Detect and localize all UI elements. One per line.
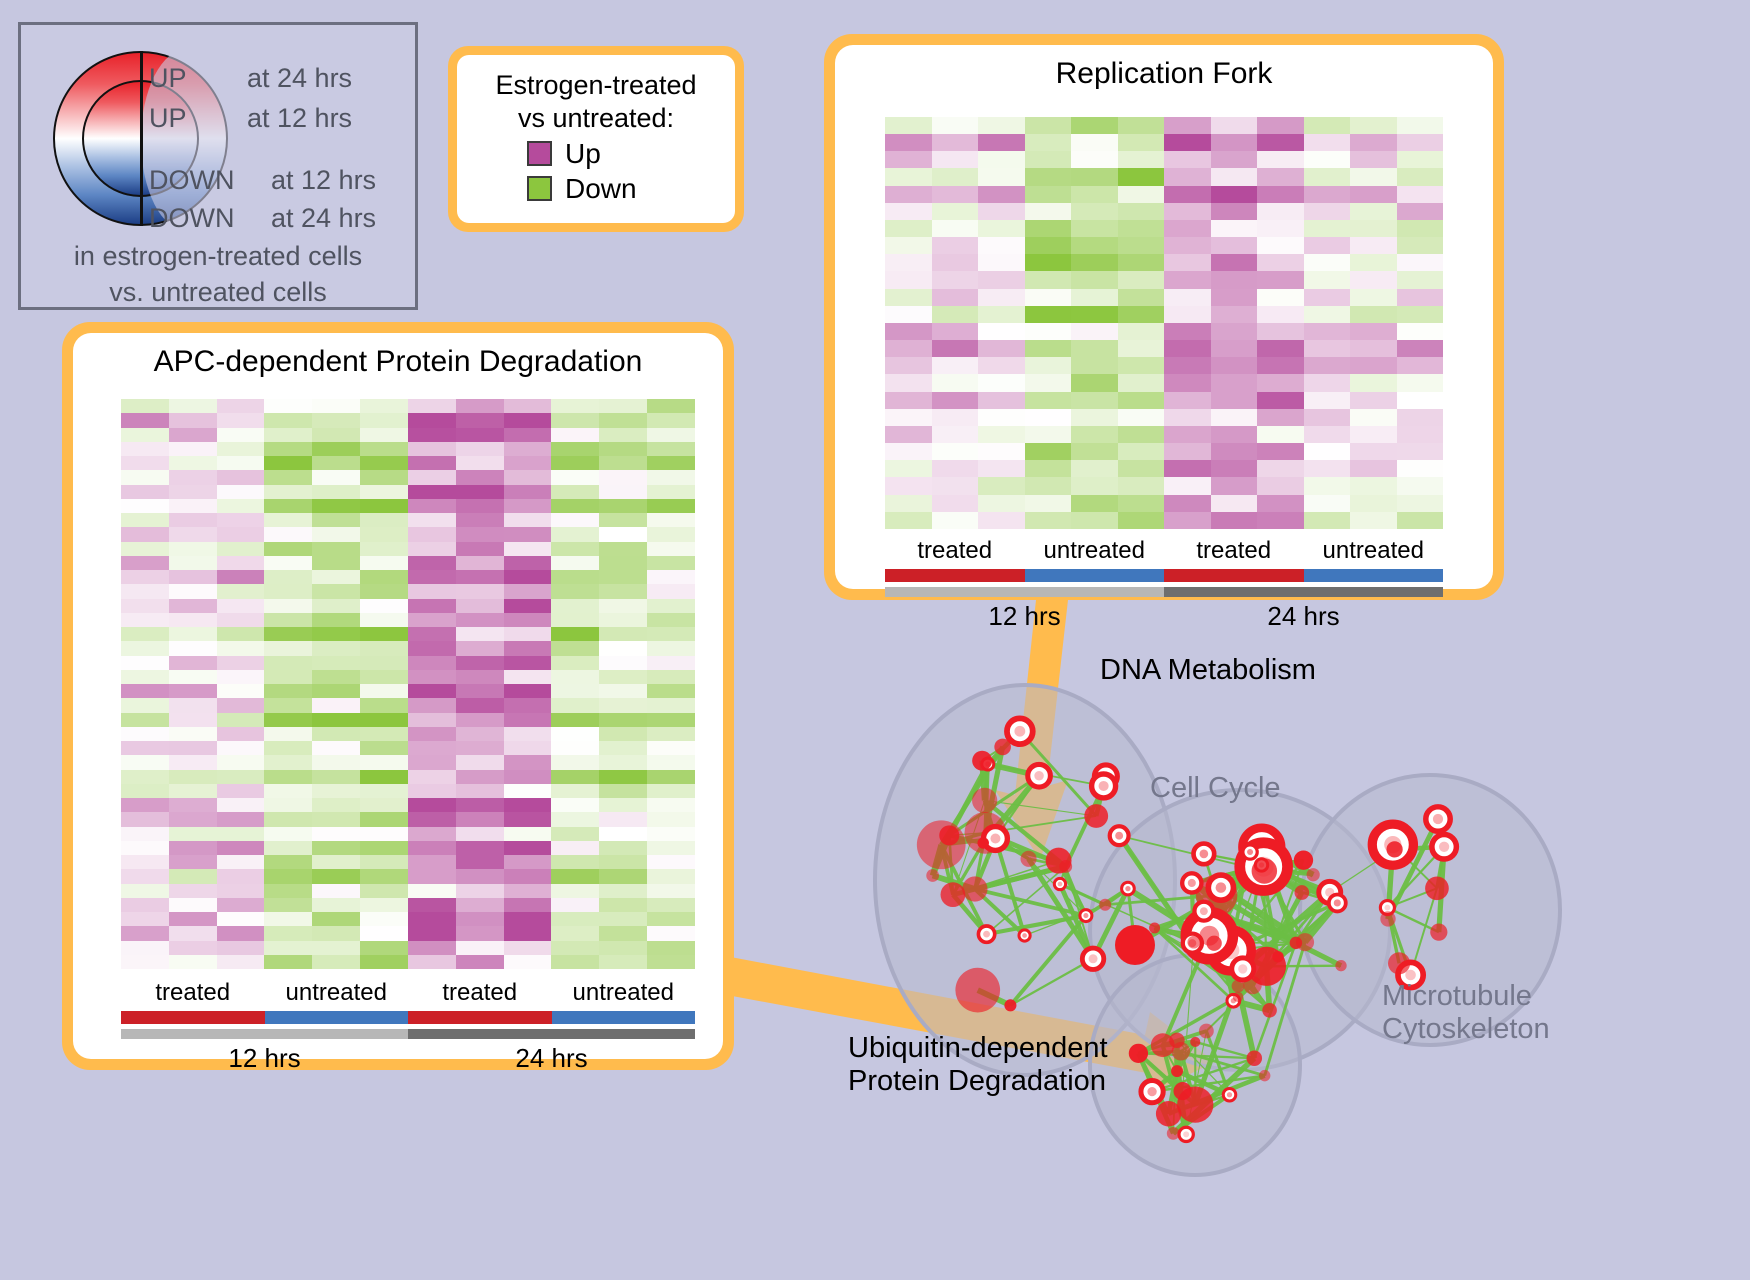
time-bar-24hrs — [408, 1029, 695, 1039]
heatmap-cell — [121, 926, 169, 940]
network-node-core — [1188, 879, 1196, 887]
heatmap-cell — [1118, 374, 1165, 391]
heatmap-cell — [978, 271, 1025, 288]
heatmap-cell — [1257, 220, 1304, 237]
network-node — [1380, 911, 1395, 926]
heatmap-cell — [647, 670, 695, 684]
heatmap-cell — [1304, 443, 1351, 460]
heatmap-cell — [647, 827, 695, 841]
heatmap-cell — [312, 955, 360, 969]
heatmap-cell — [932, 254, 979, 271]
heatmap-cell — [1211, 495, 1258, 512]
heatmap-cell — [599, 926, 647, 940]
group-bar-untreated-12 — [1025, 569, 1165, 582]
heatmap-cell — [885, 443, 932, 460]
group-bar-treated-12 — [121, 1011, 265, 1024]
heatmap-cell — [647, 784, 695, 798]
heatmap-cell — [932, 512, 979, 529]
network-node — [1386, 841, 1402, 857]
heatmap-cell — [932, 237, 979, 254]
heatmap-cell — [504, 670, 552, 684]
heatmap-cell — [121, 513, 169, 527]
heatmap-cell — [264, 741, 312, 755]
heatmap-cell — [264, 456, 312, 470]
heatmap-cell — [1211, 443, 1258, 460]
heatmap-cell — [408, 641, 456, 655]
heatmap-cell — [1257, 323, 1304, 340]
heatmap-cell — [647, 513, 695, 527]
heatmap-cell — [360, 869, 408, 883]
heatmap-cell — [169, 470, 217, 484]
heatmap-cell — [504, 884, 552, 898]
heatmap-cell — [456, 898, 504, 912]
heatmap-cell — [1304, 203, 1351, 220]
heatmap-cell — [932, 289, 979, 306]
heatmap-cell — [360, 542, 408, 556]
heatmap-cell — [1118, 340, 1165, 357]
heatmap-cell — [504, 513, 552, 527]
heatmap-cell — [978, 477, 1025, 494]
cluster-label-cell-cycle: Cell Cycle — [1150, 772, 1281, 805]
heatmap-cell — [360, 627, 408, 641]
network-node-core — [1058, 882, 1063, 887]
heatmap-cell — [551, 527, 599, 541]
heatmap-cell — [169, 627, 217, 641]
heatmap-cell — [312, 584, 360, 598]
heatmap-cell — [217, 656, 265, 670]
heatmap-cell — [647, 713, 695, 727]
heatmap-cell — [647, 869, 695, 883]
heatmap-cell — [121, 399, 169, 413]
heatmap-cell — [121, 570, 169, 584]
heatmap-cell — [1304, 392, 1351, 409]
heatmap-cell — [1164, 168, 1211, 185]
heatmap-cell — [1025, 151, 1072, 168]
heatmap-cell — [169, 941, 217, 955]
heatmap-cell — [932, 117, 979, 134]
replication-fork-time-bars — [885, 587, 1443, 597]
network-node — [977, 837, 988, 848]
heatmap-cell — [978, 134, 1025, 151]
heatmap-cell — [1304, 134, 1351, 151]
network-node-core — [1014, 726, 1025, 737]
group-bar-untreated-24 — [1304, 569, 1444, 582]
heatmap-cell — [169, 428, 217, 442]
heatmap-cell — [169, 812, 217, 826]
heatmap-cell — [408, 428, 456, 442]
network-node — [1335, 960, 1346, 971]
heatmap-cell — [312, 627, 360, 641]
heatmap-cell — [217, 741, 265, 755]
heatmap-cell — [360, 499, 408, 513]
heatmap-cell — [1257, 289, 1304, 306]
heatmap-cell — [978, 186, 1025, 203]
heatmap-cell — [264, 898, 312, 912]
heatmap-cell — [169, 741, 217, 755]
heatmap-cell — [504, 527, 552, 541]
heatmap-cell — [217, 884, 265, 898]
heatmap-cell — [1350, 168, 1397, 185]
heatmap-cell — [1025, 443, 1072, 460]
heatmap-cell — [1164, 443, 1211, 460]
heatmap-cell — [169, 584, 217, 598]
group-bar-untreated-24 — [552, 1011, 696, 1024]
heatmap-cell — [1350, 460, 1397, 477]
network-node — [962, 876, 987, 901]
heatmap-cell — [408, 670, 456, 684]
network-node — [926, 869, 939, 882]
cluster-label-microtubule-cytoskeleton: Microtubule Cytoskeleton — [1382, 980, 1550, 1047]
heatmap-cell — [647, 413, 695, 427]
heatmap-cell — [504, 584, 552, 598]
heatmap-cell — [1397, 117, 1444, 134]
network-node-core — [1099, 781, 1109, 791]
heatmap-cell — [408, 527, 456, 541]
heatmap-cell — [1350, 306, 1397, 323]
heatmap-cell — [121, 470, 169, 484]
heatmap-cell — [264, 641, 312, 655]
heatmap-cell — [504, 470, 552, 484]
heatmap-cell — [264, 485, 312, 499]
heatmap-cell — [599, 485, 647, 499]
heatmap-cell — [264, 713, 312, 727]
heatmap-cell — [978, 443, 1025, 460]
heatmap-cell — [360, 898, 408, 912]
heatmap-cell — [978, 117, 1025, 134]
heatmap-cell — [264, 613, 312, 627]
heatmap-cell — [169, 641, 217, 655]
heatmap-cell — [932, 495, 979, 512]
heatmap-cell — [1164, 203, 1211, 220]
heatmap-cell — [217, 599, 265, 613]
heatmap-cell — [1025, 426, 1072, 443]
heatmap-cell — [169, 485, 217, 499]
heatmap-cell — [504, 399, 552, 413]
heatmap-cell — [599, 755, 647, 769]
heatmap-cell — [978, 409, 1025, 426]
heatmap-cell — [599, 513, 647, 527]
heatmap-cell — [169, 499, 217, 513]
group-label: untreated — [1025, 537, 1165, 565]
heatmap-cell — [312, 513, 360, 527]
heatmap-cell — [885, 392, 932, 409]
heatmap-cell — [1397, 392, 1444, 409]
key-label-up-12: UP — [149, 103, 187, 134]
heatmap-cell — [978, 512, 1025, 529]
heatmap-cell — [456, 869, 504, 883]
heatmap-cell — [1350, 186, 1397, 203]
heatmap-cell — [312, 941, 360, 955]
heatmap-cell — [1304, 271, 1351, 288]
heatmap-cell — [217, 413, 265, 427]
heatmap-cell — [978, 220, 1025, 237]
heatmap-cell — [1071, 254, 1118, 271]
heatmap-cell — [551, 955, 599, 969]
heatmap-cell — [551, 641, 599, 655]
heatmap-cell — [456, 670, 504, 684]
heatmap-cell — [1211, 168, 1258, 185]
heatmap-cell — [456, 912, 504, 926]
heatmap-cell — [1257, 426, 1304, 443]
heatmap-cell — [360, 926, 408, 940]
heatmap-cell — [360, 741, 408, 755]
heatmap-cell — [599, 413, 647, 427]
heatmap-cell — [599, 684, 647, 698]
heatmap-cell — [1164, 306, 1211, 323]
heatmap-cell — [1257, 203, 1304, 220]
panel-apc-degradation: APC-dependent Protein Degradation treate… — [62, 322, 734, 1070]
heatmap-cell — [408, 513, 456, 527]
heatmap-cell — [885, 168, 932, 185]
heatmap-cell — [312, 869, 360, 883]
heatmap-cell — [647, 941, 695, 955]
heatmap-cell — [1350, 220, 1397, 237]
heatmap-cell — [504, 641, 552, 655]
heatmap-cell — [599, 798, 647, 812]
heatmap-cell — [169, 784, 217, 798]
heatmap-cell — [1025, 374, 1072, 391]
heatmap-cell — [1025, 392, 1072, 409]
heatmap-cell — [264, 884, 312, 898]
heatmap-cell — [1397, 271, 1444, 288]
heatmap-cell — [456, 499, 504, 513]
heatmap-cell — [312, 926, 360, 940]
heatmap-cell — [360, 755, 408, 769]
heatmap-cell — [504, 955, 552, 969]
heatmap-cell — [217, 713, 265, 727]
heatmap-cell — [312, 812, 360, 826]
heatmap-cell — [360, 798, 408, 812]
heatmap-cell — [456, 784, 504, 798]
heatmap-cell — [551, 456, 599, 470]
heatmap-cell — [264, 855, 312, 869]
heatmap-cell — [885, 289, 932, 306]
heatmap-cell — [121, 727, 169, 741]
heatmap-cell — [1397, 426, 1444, 443]
heatmap-cell — [932, 460, 979, 477]
heatmap-cell — [121, 784, 169, 798]
heatmap-cell — [1257, 271, 1304, 288]
heatmap-cell — [647, 798, 695, 812]
group-label: treated — [1164, 537, 1304, 565]
heatmap-cell — [1350, 117, 1397, 134]
heatmap-cell — [264, 727, 312, 741]
heatmap-cell — [360, 841, 408, 855]
heatmap-cell — [599, 827, 647, 841]
heatmap-cell — [932, 392, 979, 409]
heatmap-cell — [1257, 254, 1304, 271]
network-node — [1004, 999, 1016, 1011]
heatmap-cell — [360, 399, 408, 413]
heatmap-cell — [408, 470, 456, 484]
ring-colorbar — [53, 51, 228, 226]
network-node-core — [1405, 970, 1416, 981]
key-label-down-24: DOWN — [149, 203, 234, 234]
network-node — [1021, 851, 1037, 867]
heatmap-cell — [885, 254, 932, 271]
heatmap-cell — [264, 770, 312, 784]
heatmap-cell — [504, 684, 552, 698]
heatmap-cell — [312, 755, 360, 769]
heatmap-cell — [1350, 426, 1397, 443]
heatmap-cell — [504, 570, 552, 584]
heatmap-cell — [1397, 477, 1444, 494]
heatmap-cell — [885, 495, 932, 512]
heatmap-cell — [1304, 374, 1351, 391]
heatmap-cell — [121, 855, 169, 869]
heatmap-cell — [885, 237, 932, 254]
heatmap-cell — [1025, 409, 1072, 426]
heatmap-cell — [599, 955, 647, 969]
network-node — [1262, 1003, 1277, 1018]
color-key-legend: UP at 24 hrs UP at 12 hrs DOWN at 12 hrs… — [18, 22, 418, 310]
heatmap-cell — [217, 770, 265, 784]
heatmap-cell — [504, 812, 552, 826]
replication-fork-title: Replication Fork — [835, 45, 1493, 91]
heatmap-cell — [1350, 340, 1397, 357]
heatmap-cell — [599, 727, 647, 741]
heatmap-cell — [885, 117, 932, 134]
heatmap-cell — [599, 584, 647, 598]
heatmap-cell — [1397, 374, 1444, 391]
heatmap-cell — [1025, 186, 1072, 203]
heatmap-cell — [885, 357, 932, 374]
heatmap-cell — [1211, 271, 1258, 288]
heatmap-cell — [408, 770, 456, 784]
heatmap-cell — [932, 426, 979, 443]
heatmap-cell — [885, 151, 932, 168]
heatmap-cell — [456, 812, 504, 826]
heatmap-cell — [264, 513, 312, 527]
heatmap-cell — [312, 827, 360, 841]
heatmap-cell — [504, 898, 552, 912]
heatmap-cell — [1118, 289, 1165, 306]
heatmap-cell — [121, 770, 169, 784]
heatmap-cell — [932, 477, 979, 494]
network-node — [1259, 1070, 1270, 1081]
heatmap-cell — [1211, 220, 1258, 237]
heatmap-cell — [217, 627, 265, 641]
time-bar-12hrs — [121, 1029, 408, 1039]
heatmap-cell — [456, 485, 504, 499]
heatmap-cell — [551, 741, 599, 755]
heatmap-cell — [456, 798, 504, 812]
heatmap-cell — [1118, 323, 1165, 340]
heatmap-cell — [121, 884, 169, 898]
heatmap-cell — [264, 399, 312, 413]
heatmap-cell — [599, 542, 647, 556]
heatmap-cell — [599, 741, 647, 755]
heatmap-cell — [456, 727, 504, 741]
heatmap-cell — [504, 542, 552, 556]
heatmap-cell — [1397, 460, 1444, 477]
heatmap-cell — [456, 399, 504, 413]
heatmap-cell — [504, 599, 552, 613]
network-node — [1059, 860, 1072, 873]
heatmap-cell — [1025, 340, 1072, 357]
group-label: untreated — [552, 979, 696, 1007]
heatmap-cell — [456, 542, 504, 556]
heatmap-cell — [408, 556, 456, 570]
heatmap-cell — [504, 926, 552, 940]
heatmap-cell — [647, 627, 695, 641]
network-node-core — [990, 833, 1000, 843]
heatmap-cell — [456, 641, 504, 655]
network-node-core — [1227, 1092, 1232, 1097]
heatmap-cell — [1164, 186, 1211, 203]
heatmap-cell — [1257, 443, 1304, 460]
heatmap-cell — [169, 456, 217, 470]
heatmap-cell — [1350, 477, 1397, 494]
heatmap-cell — [360, 941, 408, 955]
heatmap-cell — [1118, 134, 1165, 151]
heatmap-cell — [1118, 186, 1165, 203]
heatmap-cell — [264, 499, 312, 513]
heatmap-cell — [1025, 220, 1072, 237]
heatmap-cell — [932, 134, 979, 151]
heatmap-cell — [1211, 512, 1258, 529]
heatmap-cell — [504, 855, 552, 869]
heatmap-cell — [456, 684, 504, 698]
heatmap-cell — [169, 442, 217, 456]
heatmap-cell — [217, 941, 265, 955]
heatmap-cell — [360, 584, 408, 598]
heatmap-cell — [1211, 460, 1258, 477]
network-node — [941, 882, 966, 907]
heatmap-cell — [647, 485, 695, 499]
heatmap-cell — [169, 770, 217, 784]
heatmap-cell — [1350, 323, 1397, 340]
legend-row-up: Up — [527, 138, 725, 170]
heatmap-cell — [169, 827, 217, 841]
heatmap-cell — [217, 470, 265, 484]
heatmap-cell — [312, 470, 360, 484]
heatmap-cell — [1304, 409, 1351, 426]
network-node-core — [1083, 913, 1088, 918]
heatmap-cell — [1304, 426, 1351, 443]
heatmap-cell — [1118, 512, 1165, 529]
heatmap-cell — [408, 812, 456, 826]
heatmap-cell — [932, 306, 979, 323]
network-node — [1099, 899, 1111, 911]
heatmap-cell — [408, 955, 456, 969]
heatmap-cell — [1304, 151, 1351, 168]
heatmap-cell — [647, 884, 695, 898]
network-node — [1232, 980, 1245, 993]
heatmap-cell — [885, 203, 932, 220]
heatmap-cell — [456, 456, 504, 470]
heatmap-cell — [1397, 443, 1444, 460]
heatmap-cell — [504, 912, 552, 926]
group-label: untreated — [1304, 537, 1444, 565]
network-node — [1190, 1037, 1200, 1047]
heatmap-cell — [456, 698, 504, 712]
heatmap-cell — [1304, 357, 1351, 374]
heatmap-cell — [1350, 289, 1397, 306]
heatmap-cell — [1397, 289, 1444, 306]
heatmap-cell — [647, 955, 695, 969]
heatmap-cell — [504, 499, 552, 513]
heatmap-cell — [1071, 237, 1118, 254]
heatmap-cell — [647, 556, 695, 570]
heatmap-cell — [647, 898, 695, 912]
heatmap-cell — [264, 428, 312, 442]
heatmap-cell — [264, 413, 312, 427]
heatmap-cell — [1397, 409, 1444, 426]
heatmap-cell — [1211, 289, 1258, 306]
apc-title: APC-dependent Protein Degradation — [73, 333, 723, 379]
network-node-core — [1238, 964, 1247, 973]
